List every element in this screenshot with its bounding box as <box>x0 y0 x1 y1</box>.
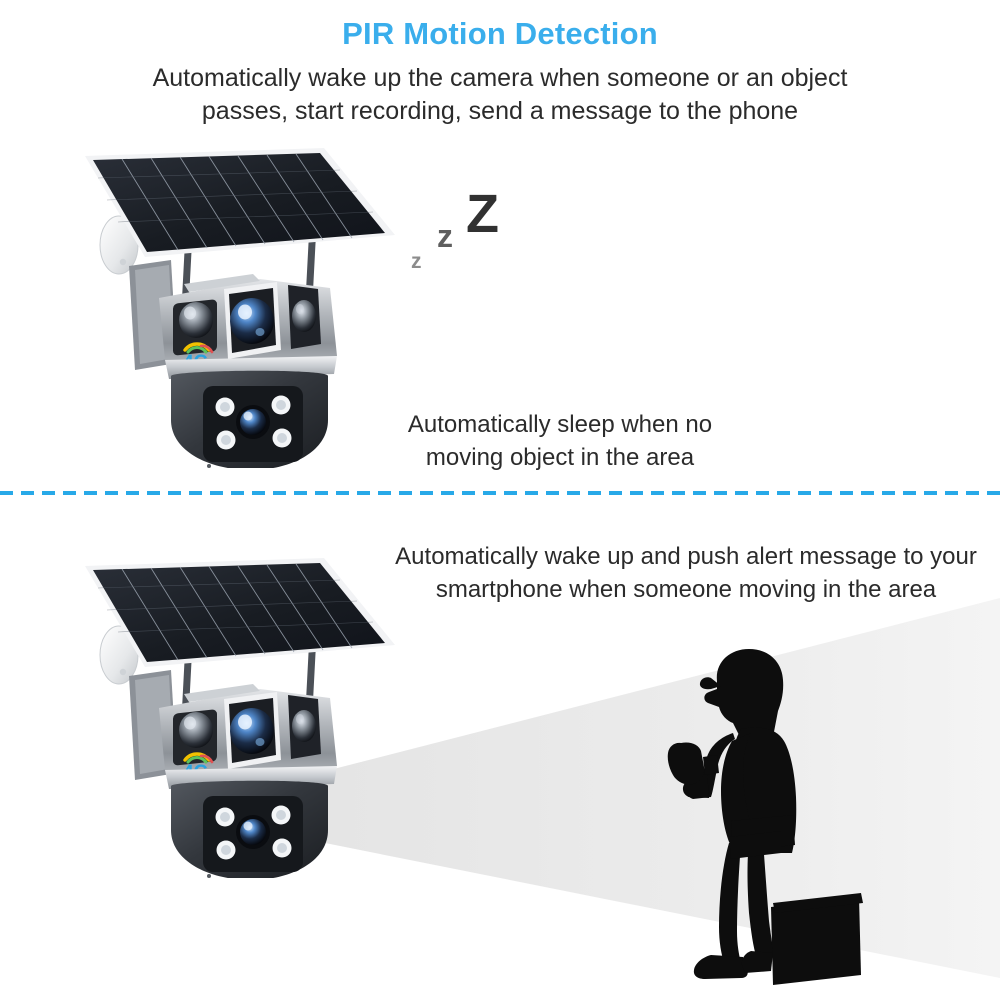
infographic-page: PIR Motion Detection Automatically wake … <box>0 0 1000 1000</box>
camera-ptz-head <box>171 371 328 468</box>
camera-lens-icon-ptz <box>240 409 266 435</box>
camera-lens-icon-center <box>230 708 274 754</box>
solar-camera-device-bottom: 4G <box>85 558 395 878</box>
wake-caption-line-1: Automatically wake up and push alert mes… <box>395 543 977 570</box>
camera-lens-icon-right <box>292 710 316 742</box>
page-subtitle: Automatically wake up the camera when so… <box>0 62 1000 128</box>
page-title: PIR Motion Detection <box>0 16 1000 52</box>
sleep-caption-line-1: Automatically sleep when no <box>408 411 712 438</box>
camera-lens-icon-right <box>292 300 316 332</box>
camera-lens-icon-center <box>230 298 274 344</box>
camera-lens-icon-ptz <box>240 819 266 845</box>
camera-ptz-head <box>171 781 328 878</box>
wake-caption: Automatically wake up and push alert mes… <box>372 540 1000 606</box>
camera-lens-icon-left <box>179 302 213 338</box>
page-subtitle-line-2: passes, start recording, send a message … <box>0 95 1000 128</box>
sleep-z-icon-small: z <box>411 250 422 274</box>
sleep-caption-line-2: moving object in the area <box>380 441 740 474</box>
page-subtitle-line-1: Automatically wake up the camera when so… <box>153 64 848 92</box>
solar-camera-device-top: 4G <box>85 148 395 468</box>
camera-lens-icon-left <box>179 712 213 748</box>
person-silhouette-icon <box>645 645 895 995</box>
section-divider <box>0 491 1000 495</box>
sleep-z-icon-large: Z <box>466 183 499 245</box>
wake-caption-line-2: smartphone when someone moving in the ar… <box>372 573 1000 606</box>
sleep-caption: Automatically sleep when no moving objec… <box>380 408 740 474</box>
sleep-z-icon-medium: z <box>437 218 453 255</box>
